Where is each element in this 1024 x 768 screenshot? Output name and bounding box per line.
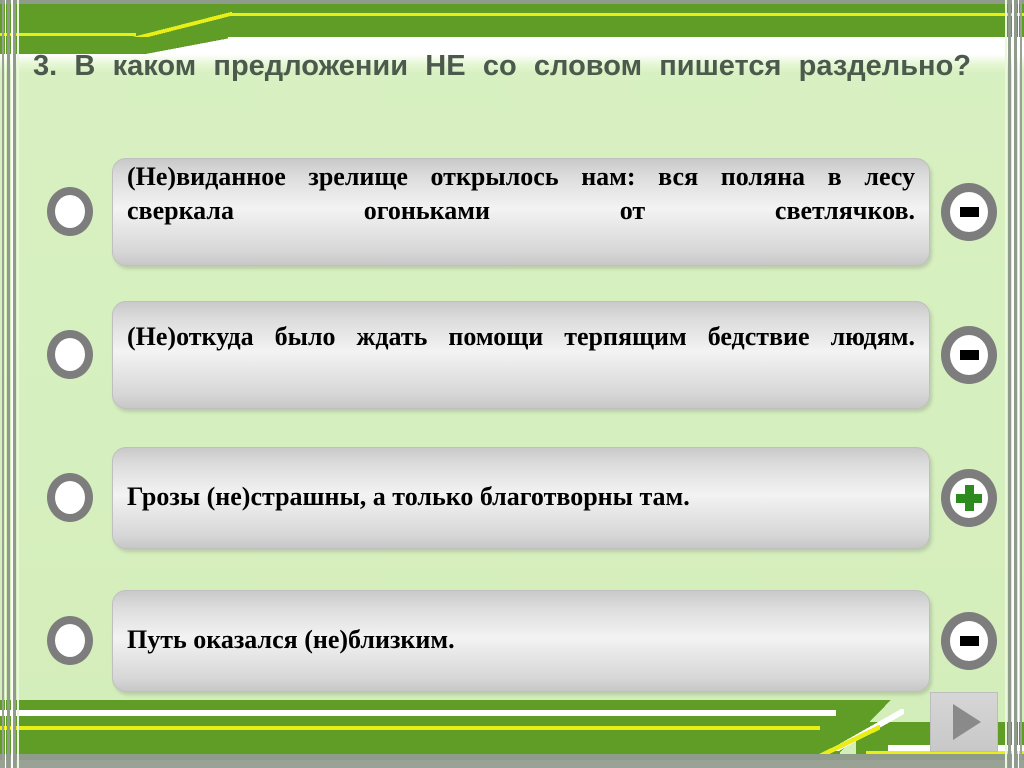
- answer-box-option-1[interactable]: (Не)виданное зрелище открылось нам: вся …: [112, 158, 930, 266]
- answer-text-option-1: (Не)виданное зрелище открылось нам: вся …: [127, 160, 915, 264]
- top-band-yellow-diagonal: [130, 12, 232, 38]
- top-band-yellow-right: [228, 13, 1024, 16]
- radio-button-option-1[interactable]: [47, 187, 93, 236]
- play-icon: [953, 704, 981, 740]
- minus-icon: [960, 207, 979, 217]
- minus-marker-icon-option-1: [941, 183, 997, 241]
- plus-marker-icon-option-3: [941, 469, 997, 527]
- radio-button-option-4[interactable]: [47, 616, 93, 665]
- next-slide-button[interactable]: [930, 692, 998, 752]
- top-decorative-band: [0, 0, 1024, 48]
- answer-option-row[interactable]: (Не)виданное зрелище открылось нам: вся …: [0, 140, 1024, 283]
- minus-marker-icon-option-2: [941, 326, 997, 384]
- radio-button-option-3[interactable]: [47, 473, 93, 522]
- answer-text-option-3: Грозы (не)страшны, а только благотворны …: [127, 480, 915, 515]
- answer-options-list: (Не)виданное зрелище открылось нам: вся …: [0, 140, 1024, 712]
- answer-option-row[interactable]: Грозы (не)страшны, а только благотворны …: [0, 426, 1024, 569]
- minus-icon: [960, 350, 979, 360]
- plus-icon: [956, 485, 982, 511]
- bottom-band-yellow-left: [0, 726, 820, 730]
- answer-box-option-2[interactable]: (Не)откуда было ждать помощи терпящим бе…: [112, 301, 930, 409]
- answer-text-option-2: (Не)откуда было ждать помощи терпящим бе…: [127, 320, 915, 389]
- answer-box-option-4[interactable]: Путь оказался (не)близким.: [112, 590, 930, 692]
- answer-option-row[interactable]: (Не)откуда было ждать помощи терпящим бе…: [0, 283, 1024, 426]
- bottom-band-grey-base: [0, 760, 1024, 768]
- minus-icon: [960, 636, 979, 646]
- question-text: 3. В каком предложении НЕ со словом пише…: [33, 48, 971, 122]
- quiz-slide: 3. В каком предложении НЕ со словом пише…: [0, 0, 1024, 768]
- radio-button-option-2[interactable]: [47, 330, 93, 379]
- answer-text-option-4: Путь оказался (не)близким.: [127, 623, 915, 658]
- answer-option-row[interactable]: Путь оказался (не)близким.: [0, 569, 1024, 712]
- answer-box-option-3[interactable]: Грозы (не)страшны, а только благотворны …: [112, 447, 930, 549]
- minus-marker-icon-option-4: [941, 612, 997, 670]
